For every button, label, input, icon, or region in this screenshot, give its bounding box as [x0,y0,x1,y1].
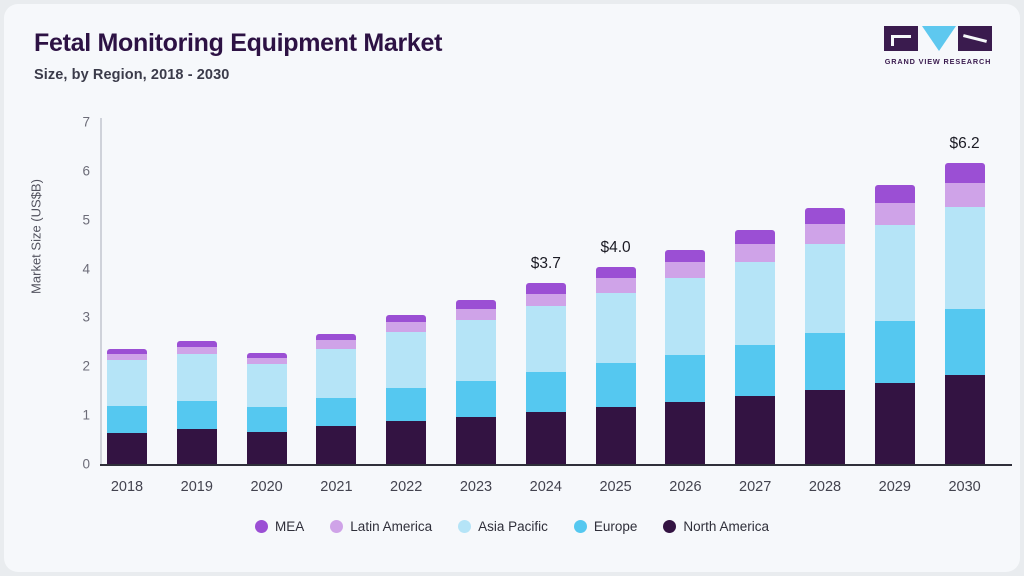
bar-stack-2027[interactable] [735,230,775,464]
y-axis-tick-label: 2 [56,359,90,374]
legend-label: Asia Pacific [478,519,548,534]
bar-segment-latin-america[interactable] [665,262,705,278]
legend-item-mea[interactable]: MEA [255,519,304,534]
bar-segment-mea[interactable] [805,208,845,224]
bar-segment-europe[interactable] [386,388,426,421]
bar-segment-europe[interactable] [316,398,356,426]
bar-stack-2030[interactable] [945,163,985,464]
bar-segment-asia-pacific[interactable] [526,306,566,371]
bar-value-label-2030: $6.2 [925,135,1005,153]
bar-segment-asia-pacific[interactable] [107,360,147,405]
x-axis-tick-label-2028: 2028 [790,479,860,495]
x-axis-tick-label-2020: 2020 [232,479,302,495]
y-axis-tick-label: 0 [56,457,90,472]
x-axis-tick-label-2019: 2019 [162,479,232,495]
bar-segment-mea[interactable] [596,267,636,278]
legend-item-latin-america[interactable]: Latin America [330,519,432,534]
bar-segment-north-america[interactable] [316,426,356,464]
x-axis-tick-label-2021: 2021 [301,479,371,495]
bar-segment-north-america[interactable] [386,421,426,464]
x-axis-tick-label-2022: 2022 [371,479,441,495]
bar-segment-latin-america[interactable] [107,354,147,361]
legend-swatch-europe-icon [574,520,587,533]
x-axis-tick-label-2023: 2023 [441,479,511,495]
bar-value-label-2024: $3.7 [506,255,586,273]
legend-item-asia-pacific[interactable]: Asia Pacific [458,519,548,534]
x-axis-tick-label-2027: 2027 [720,479,790,495]
bar-segment-latin-america[interactable] [456,309,496,320]
y-axis-tick-label: 6 [56,163,90,178]
x-axis-tick-label-2025: 2025 [581,479,651,495]
bar-segment-asia-pacific[interactable] [316,349,356,398]
bar-segment-north-america[interactable] [875,383,915,464]
x-axis-line [100,464,1012,466]
bar-segment-europe[interactable] [735,345,775,396]
bar-stack-2026[interactable] [665,250,705,464]
bar-stack-2028[interactable] [805,208,845,464]
y-axis-tick-label: 1 [56,408,90,423]
x-axis-tick-label-2024: 2024 [511,479,581,495]
bar-segment-north-america[interactable] [456,417,496,464]
bar-segment-mea[interactable] [665,250,705,263]
bar-segment-latin-america[interactable] [177,347,217,354]
bar-segment-europe[interactable] [456,381,496,417]
legend-label: North America [683,519,769,534]
bar-stack-2021[interactable] [316,334,356,464]
bar-segment-asia-pacific[interactable] [386,332,426,389]
bar-stack-2029[interactable] [875,185,915,464]
bar-segment-latin-america[interactable] [735,244,775,262]
bar-segment-latin-america[interactable] [596,278,636,292]
bar-segment-europe[interactable] [247,407,287,432]
bar-segment-mea[interactable] [875,185,915,203]
bar-segment-europe[interactable] [945,309,985,375]
bar-segment-asia-pacific[interactable] [456,320,496,381]
bar-segment-north-america[interactable] [247,432,287,464]
legend-label: Europe [594,519,638,534]
bar-segment-north-america[interactable] [945,375,985,464]
bar-segment-north-america[interactable] [177,429,217,464]
chart-legend: MEALatin AmericaAsia PacificEuropeNorth … [4,519,1020,534]
bar-segment-north-america[interactable] [526,412,566,464]
bar-segment-latin-america[interactable] [526,294,566,307]
y-axis-tick-label: 3 [56,310,90,325]
bar-segment-asia-pacific[interactable] [596,293,636,364]
bar-segment-europe[interactable] [665,355,705,403]
y-axis-title: Market Size (US$B) [29,87,44,387]
legend-item-europe[interactable]: Europe [574,519,638,534]
legend-item-north-america[interactable]: North America [663,519,769,534]
bar-segment-latin-america[interactable] [247,358,287,365]
bar-segment-north-america[interactable] [107,433,147,464]
bar-stack-2023[interactable] [456,300,496,464]
bar-segment-latin-america[interactable] [386,322,426,332]
bar-segment-latin-america[interactable] [875,203,915,224]
bar-segment-latin-america[interactable] [316,340,356,348]
bar-stack-2022[interactable] [386,315,426,464]
bar-segment-asia-pacific[interactable] [805,244,845,333]
bar-segment-mea[interactable] [735,230,775,244]
x-axis-tick-label-2026: 2026 [650,479,720,495]
bar-segment-north-america[interactable] [596,407,636,464]
bar-stack-2018[interactable] [107,349,147,464]
bar-segment-mea[interactable] [945,163,985,183]
chart-card: Fetal Monitoring Equipment Market Size, … [4,4,1020,572]
legend-swatch-latin-america-icon [330,520,343,533]
bar-segment-europe[interactable] [805,333,845,390]
y-axis-line [100,118,102,466]
bar-segment-mea[interactable] [386,315,426,322]
bar-segment-europe[interactable] [596,363,636,407]
bar-segment-asia-pacific[interactable] [665,278,705,355]
bar-segment-asia-pacific[interactable] [875,225,915,321]
y-axis-tick-label: 4 [56,261,90,276]
bar-segment-north-america[interactable] [665,402,705,464]
x-axis-tick-label-2029: 2029 [860,479,930,495]
legend-swatch-mea-icon [255,520,268,533]
bar-segment-europe[interactable] [177,401,217,429]
legend-swatch-north-america-icon [663,520,676,533]
bar-stack-2025[interactable] [596,267,636,464]
bar-segment-europe[interactable] [526,372,566,413]
bar-segment-north-america[interactable] [805,390,845,464]
x-axis-tick-label-2030: 2030 [930,479,1000,495]
bar-segment-mea[interactable] [526,283,566,293]
bar-segment-north-america[interactable] [735,396,775,464]
y-axis-tick-label: 7 [56,115,90,130]
bar-segment-europe[interactable] [107,406,147,433]
bar-stack-2024[interactable] [526,283,566,464]
bar-segment-asia-pacific[interactable] [247,364,287,407]
bar-segment-asia-pacific[interactable] [945,207,985,310]
y-axis-tick-label: 5 [56,212,90,227]
bar-segment-latin-america[interactable] [945,183,985,207]
legend-label: MEA [275,519,304,534]
chart-plot-area: Market Size (US$B) 01234567 201820192020… [4,4,1020,572]
bar-segment-mea[interactable] [456,300,496,309]
bar-stack-2019[interactable] [177,341,217,464]
bar-segment-asia-pacific[interactable] [177,354,217,401]
bar-segment-latin-america[interactable] [805,224,845,244]
bar-segment-europe[interactable] [875,321,915,384]
legend-label: Latin America [350,519,432,534]
bar-stack-2020[interactable] [247,353,287,464]
x-axis-tick-label-2018: 2018 [92,479,162,495]
legend-swatch-asia-pacific-icon [458,520,471,533]
bar-segment-asia-pacific[interactable] [735,262,775,345]
bar-value-label-2025: $4.0 [576,239,656,257]
